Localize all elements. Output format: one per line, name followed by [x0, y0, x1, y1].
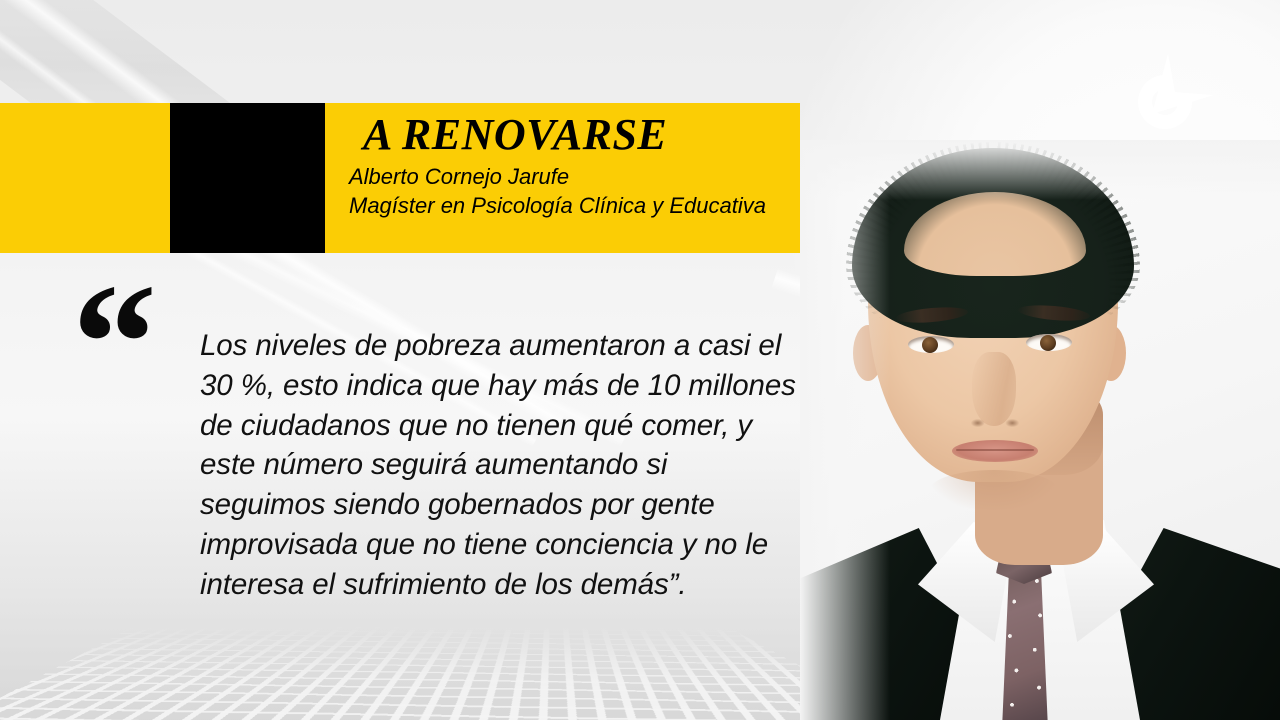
portrait-nostrils — [968, 416, 1022, 430]
portrait-iris-right — [1040, 335, 1056, 351]
circular-arrow-logo[interactable] — [1108, 52, 1220, 152]
portrait-eye-right — [1026, 334, 1072, 351]
portrait-left-fade — [800, 140, 890, 720]
portrait-nose — [972, 352, 1016, 426]
author-credential: Magíster en Psicología Clínica y Educati… — [349, 192, 800, 221]
portrait-eye-left — [908, 336, 954, 353]
quote-card: A RENOVARSE Alberto Cornejo Jarufe Magís… — [0, 0, 1280, 720]
author-name: Alberto Cornejo Jarufe — [349, 163, 800, 192]
quote-open-mark-icon: “ — [72, 258, 157, 428]
portrait-mouth-line — [956, 449, 1034, 451]
circular-arrow-icon — [1108, 52, 1220, 152]
page-title: A RENOVARSE — [363, 113, 800, 157]
author-portrait — [800, 140, 1280, 720]
portrait-iris-left — [922, 337, 938, 353]
portrait-mouth — [952, 440, 1038, 462]
quote-text: Los niveles de pobreza aumentaron a casi… — [200, 326, 800, 605]
portrait-chin-shadow — [930, 470, 1058, 510]
banner-black-block — [170, 103, 325, 253]
title-banner: A RENOVARSE Alberto Cornejo Jarufe Magís… — [0, 103, 800, 253]
banner-text-group: A RENOVARSE Alberto Cornejo Jarufe Magís… — [345, 103, 800, 253]
